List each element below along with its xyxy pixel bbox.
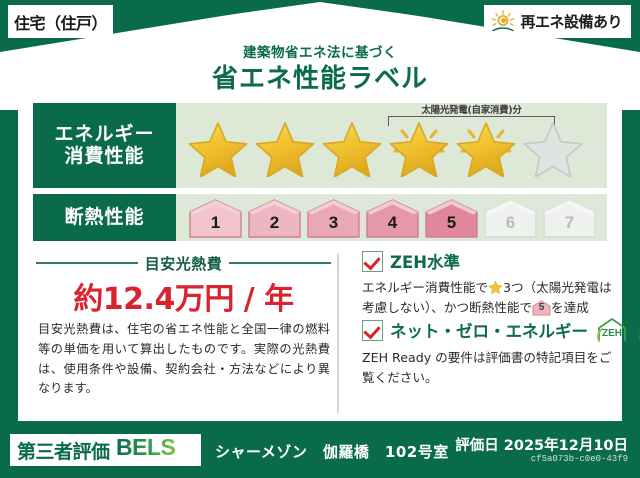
insulation-level-number: 1 [211, 213, 220, 238]
inline-star-icon [488, 280, 503, 295]
net-zero-block: ネット・ゼロ・エネルギー ZEH ZEH Ready ZEH Ready の要件… [362, 317, 639, 388]
renewable-badge-label: 再エネ設備あり [520, 11, 622, 32]
svg-text:BELS: BELS [116, 435, 176, 460]
insulation-level-on: 2 [246, 198, 303, 238]
energy-label-card: 住宅（住戸） 再エネ設備あり 建築物省エネ法に基づく 省エネ性能ラベル [0, 0, 640, 478]
label-title: 省エネ性能ラベル [0, 58, 640, 95]
star-rating [176, 103, 607, 188]
svg-text:ZEH: ZEH [602, 328, 622, 339]
energy-performance-label: エネルギー 消費性能 [33, 103, 176, 188]
insulation-label-text: 断熱性能 [64, 207, 144, 229]
zeh-standard-heading: ZEH水準 [362, 249, 624, 273]
energy-stars-panel: 太陽光発電(自家消費)分 [176, 103, 607, 188]
building-type-label: 住宅（住戸） [14, 10, 107, 34]
insulation-level-number: 6 [506, 213, 515, 238]
star-filled [186, 115, 250, 177]
column-divider [337, 253, 339, 413]
details-section: 目安光熱費 約12.4万円 / 年 目安光熱費は、住宅の省エネ性能と全国一律の燃… [18, 247, 622, 421]
star-icon [521, 115, 585, 177]
bels-logo: 第三者評価 BELS [10, 434, 201, 466]
evaluation-id: cf5a073b-c0e0-43f9 [531, 454, 628, 464]
insulation-level-number: 4 [388, 213, 397, 238]
star-filled [387, 115, 451, 177]
insulation-level-on: 4 [364, 198, 421, 238]
star-icon [253, 115, 317, 177]
zeh-standard-checkbox[interactable] [362, 251, 383, 272]
insulation-level-off: 7 [541, 198, 598, 238]
net-zero-checkbox[interactable] [362, 320, 383, 341]
zeh-body-part1: エネルギー消費性能で [362, 280, 488, 295]
insulation-level-off: 6 [482, 198, 539, 238]
energy-performance-row: エネルギー 消費性能 太陽光発電(自家消費)分 [33, 103, 607, 188]
star-icon [387, 115, 451, 177]
insulation-performance-row: 断熱性能 1234567 [33, 194, 607, 241]
star-icon [186, 115, 250, 177]
star-filled [454, 115, 518, 177]
net-zero-body: ZEH Ready の要件は評価書の特記項目をご覧ください。 [362, 348, 624, 388]
insulation-level-number: 7 [565, 213, 574, 238]
cost-rule-left [36, 262, 138, 264]
star-filled [253, 115, 317, 177]
net-zero-heading: ネット・ゼロ・エネルギー ZEH ZEH Ready [362, 317, 639, 343]
cost-heading-label: 目安光熱費 [145, 253, 223, 274]
insulation-level-scale: 1234567 [176, 194, 607, 241]
zeh-ready-logo: ZEH ZEH Ready [595, 317, 639, 343]
zeh-logo-shape: ZEH [595, 317, 639, 343]
bels-en-label: BELS [116, 435, 194, 466]
insulation-level-number: 2 [270, 213, 279, 238]
renewable-equipment-badge: 再エネ設備あり [484, 5, 631, 38]
zeh-standard-body: エネルギー消費性能で3つ（太陽光発電は考慮しない）、かつ断熱性能で5を達成 [362, 278, 624, 318]
insulation-level-number: 3 [329, 213, 338, 238]
inline-house-badge: 5 [532, 300, 551, 316]
property-name: シャーメゾン 伽羅橋 102号室 [215, 441, 449, 462]
estimated-cost-value: 約12.4万円 / 年 [36, 274, 331, 318]
star-icon [454, 115, 518, 177]
insulation-level-number: 5 [447, 213, 456, 238]
evaluation-date: 評価日 2025年12月10日 [455, 434, 628, 455]
insulation-performance-label: 断熱性能 [33, 194, 176, 241]
footer-bar: 第三者評価 BELS シャーメゾン 伽羅橋 102号室 評価日 2025年12月… [0, 428, 640, 478]
label-body-card: エネルギー 消費性能 太陽光発電(自家消費)分 断熱性能 1234567 [18, 95, 622, 421]
bels-wordmark: BELS [116, 435, 194, 460]
cost-rule-right [229, 262, 331, 264]
insulation-level-on: 5 [423, 198, 480, 238]
net-zero-title: ネット・ゼロ・エネルギー [390, 318, 588, 342]
insulation-level-on: 1 [187, 198, 244, 238]
estimated-cost-note: 目安光熱費は、住宅の省エネ性能と全国一律の燃料等の単価を用いて算出したものです。… [38, 320, 330, 399]
zeh-standard-block: ZEH水準 エネルギー消費性能で3つ（太陽光発電は考慮しない）、かつ断熱性能で5… [362, 249, 624, 318]
sun-solar-icon [490, 10, 516, 34]
energy-label-line1: エネルギー [54, 124, 154, 146]
star-icon [320, 115, 384, 177]
building-type-badge: 住宅（住戸） [8, 5, 113, 38]
energy-label-line2: 消費性能 [64, 146, 144, 168]
star-empty [521, 115, 585, 177]
inline-house-number: 5 [532, 300, 551, 316]
insulation-levels-panel: 1234567 [176, 194, 607, 241]
insulation-level-on: 3 [305, 198, 362, 238]
zeh-standard-title: ZEH水準 [390, 249, 460, 273]
cost-heading-row: 目安光熱費 [36, 253, 331, 273]
bels-jp-label: 第三者評価 [17, 437, 110, 464]
star-filled [320, 115, 384, 177]
zeh-body-part3: を達成 [551, 300, 589, 315]
